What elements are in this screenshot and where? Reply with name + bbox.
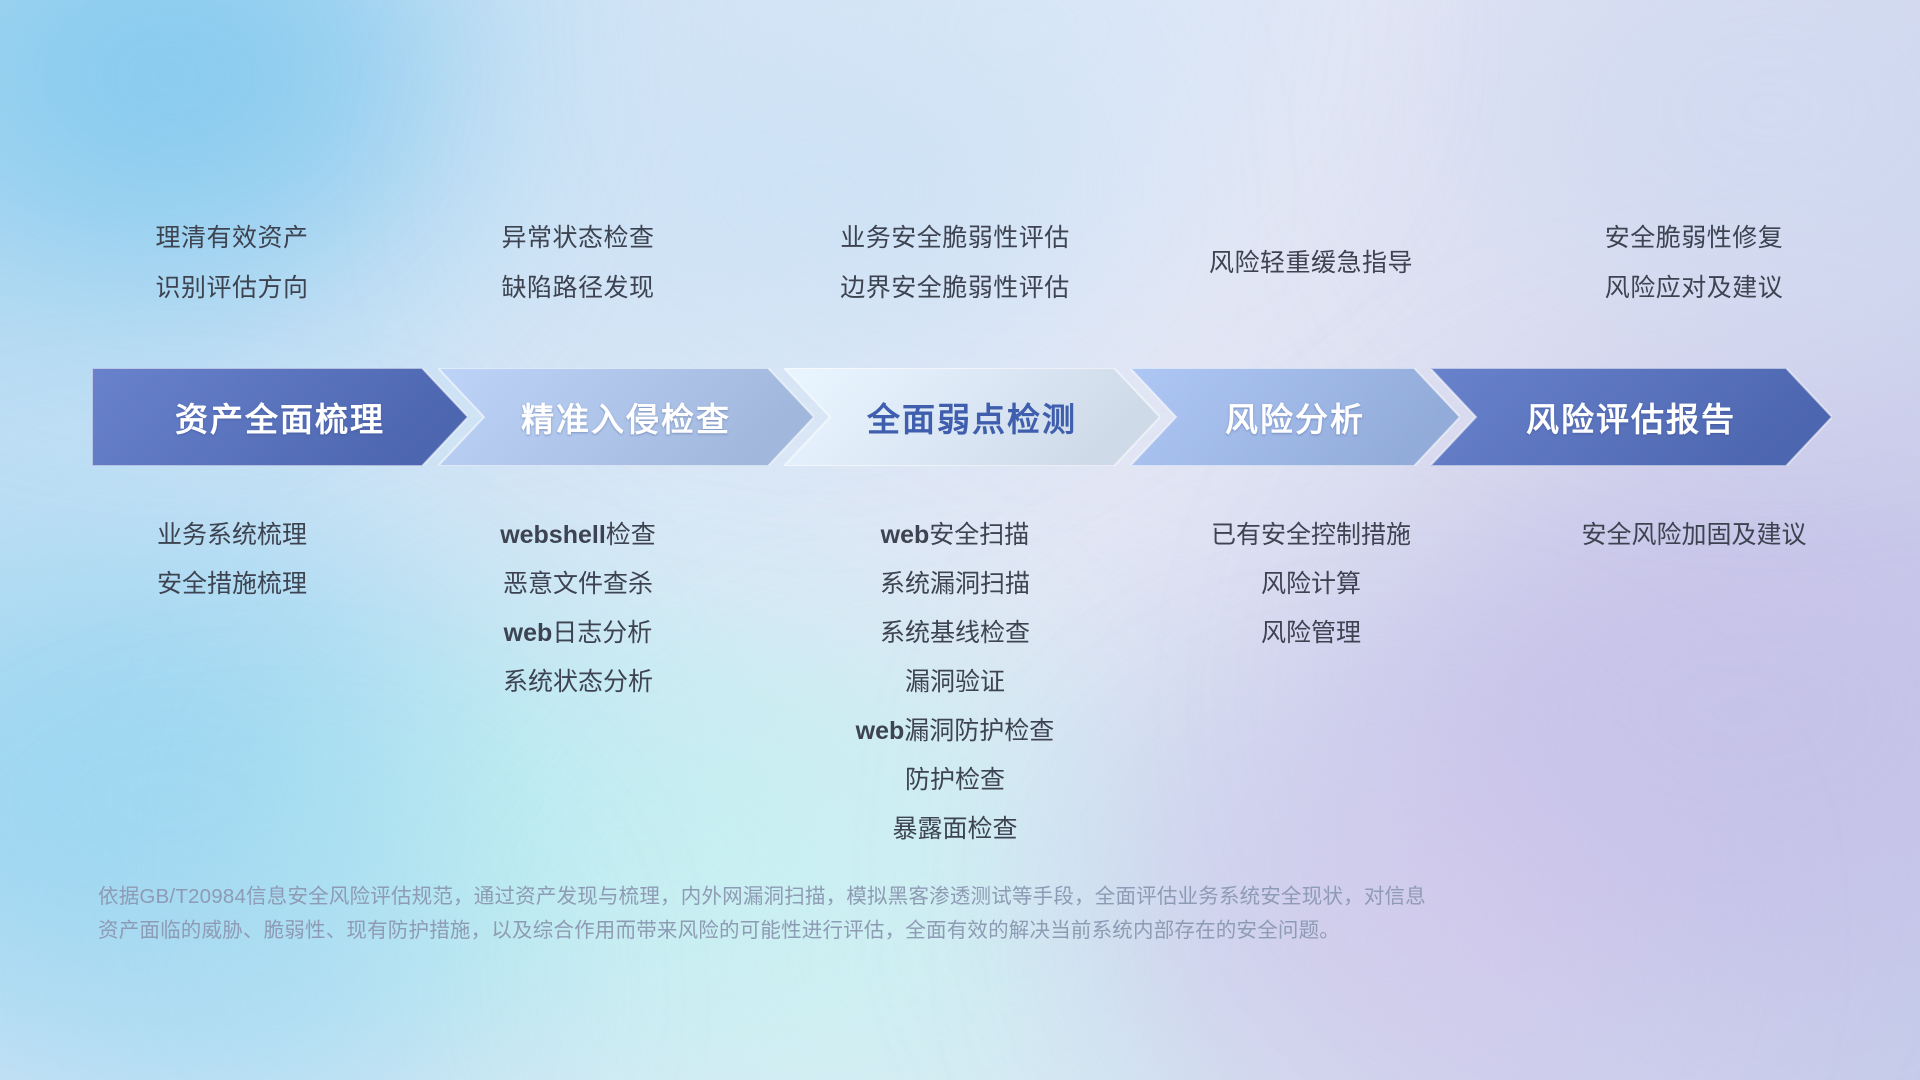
chevron-band: 资产全面梳理精准入侵检查全面弱点检测风险分析风险评估报告 [92,368,1832,466]
chevron-label-stage-3: 全面弱点检测 [867,393,1077,441]
chevron-stage-3[interactable]: 全面弱点检测 [784,368,1160,466]
list-item-latin: web [856,717,905,745]
list-item-latin: web [881,521,930,549]
list-item[interactable]: 安全风险加固及建议 [1434,511,1920,560]
list-item-cjk: 日志分析 [552,619,652,647]
list-item-latin: webshell [500,521,606,549]
chevron-label-stage-5: 风险评估报告 [1526,393,1736,441]
chevron-stage-4[interactable]: 风险分析 [1130,368,1460,466]
top-captions-row: 理清有效资产识别评估方向异常状态检查缺陷路径发现业务安全脆弱性评估边界安全脆弱性… [0,0,1920,300]
list-item-cjk: 安全扫描 [929,521,1029,549]
list-item[interactable]: 漏洞验证 [695,658,1215,707]
list-item[interactable]: 风险管理 [1051,609,1571,658]
top-caption-stage-5: 安全脆弱性修复风险应对及建议 [1434,213,1920,313]
caption-line: 风险应对及建议 [1434,263,1920,313]
footer-description: 依据GB/T20984信息安全风险评估规范，通过资产发现与梳理，内外网漏洞扫描，… [98,880,1658,948]
footer-line-2: 资产面临的威胁、脆弱性、现有防护措施，以及综合作用而带来风险的可能性进行评估，全… [98,914,1658,948]
chevron-label-stage-1: 资产全面梳理 [175,393,385,441]
list-item[interactable]: 防护检查 [695,756,1215,805]
footer-line-1: 依据GB/T20984信息安全风险评估规范，通过资产发现与梳理，内外网漏洞扫描，… [98,880,1658,914]
chevron-label-stage-4: 风险分析 [1225,393,1365,441]
item-list-stage-5: 安全风险加固及建议 [1434,511,1920,560]
caption-line: 安全脆弱性修复 [1434,213,1920,263]
chevron-stage-5[interactable]: 风险评估报告 [1430,368,1832,466]
list-item[interactable]: web漏洞防护检查 [695,707,1215,756]
list-item-cjk: 漏洞防护检查 [904,717,1054,745]
list-item-cjk: 检查 [606,521,656,549]
chevron-label-stage-2: 精准入侵检查 [521,393,731,441]
list-item-latin: web [504,619,553,647]
list-item[interactable]: 风险计算 [1051,560,1571,609]
list-item[interactable]: 暴露面检查 [695,805,1215,854]
process-diagram: 理清有效资产识别评估方向异常状态检查缺陷路径发现业务安全脆弱性评估边界安全脆弱性… [0,0,1920,1080]
chevron-stage-1[interactable]: 资产全面梳理 [92,368,468,466]
chevron-stage-2[interactable]: 精准入侵检查 [438,368,814,466]
